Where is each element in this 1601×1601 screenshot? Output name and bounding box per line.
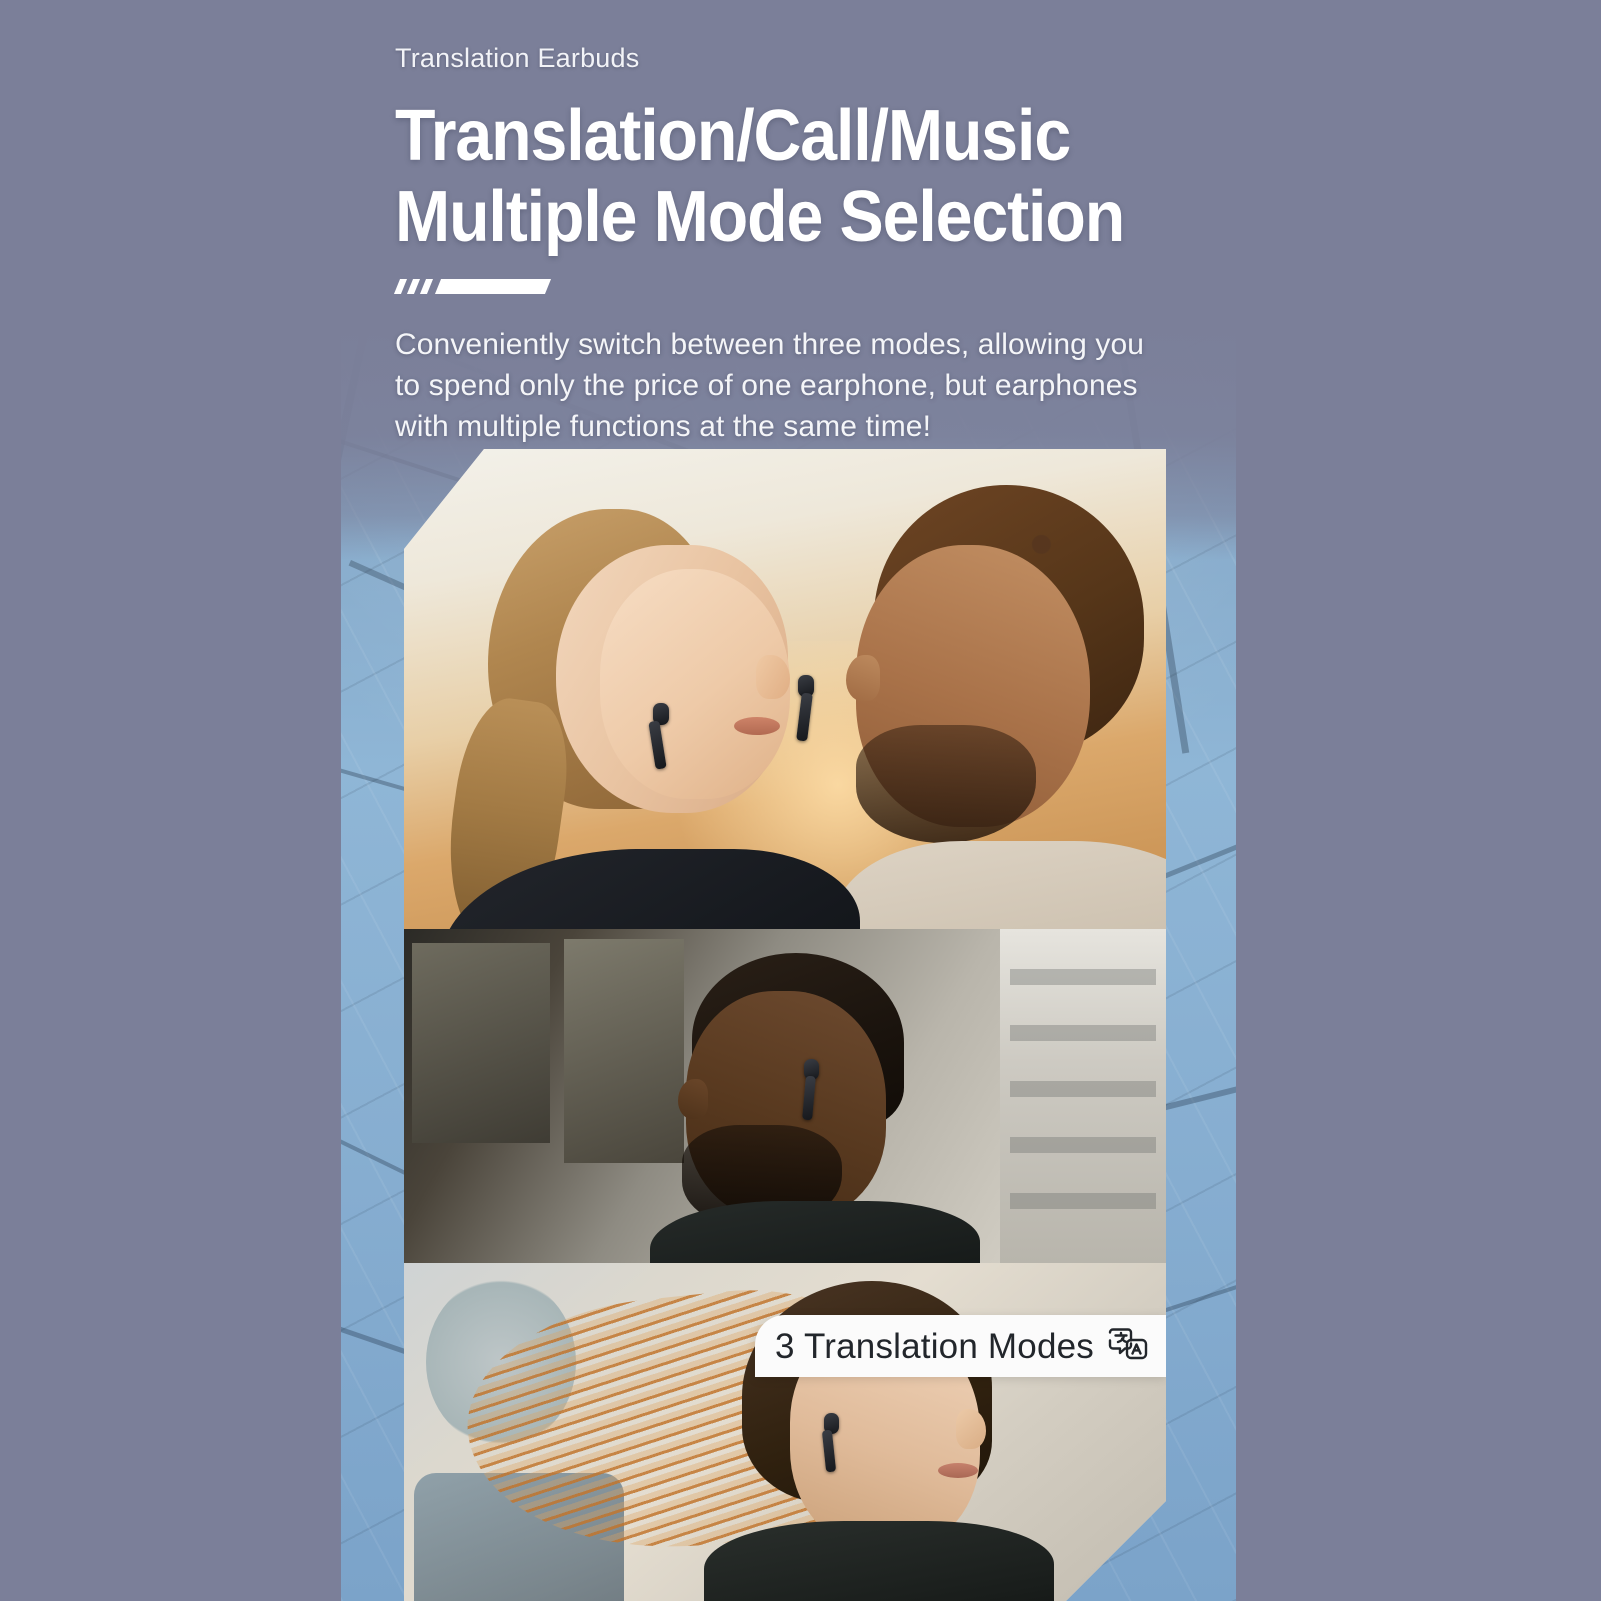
photo-collage: 3 Translation Modes	[404, 449, 1166, 1601]
headline-line-2: Multiple Mode Selection	[395, 177, 1131, 258]
headline-line-1: Translation/Call/Music	[395, 96, 1131, 177]
description-text: Conveniently switch between three modes,…	[395, 325, 1165, 447]
translate-icon	[1106, 1326, 1150, 1366]
photo-panel-translation	[404, 449, 1166, 929]
product-feature-banner: 3 Translation Modes	[0, 0, 1601, 1601]
eyebrow-text: Translation Earbuds	[395, 0, 1195, 72]
badge-translation-label: 3 Translation Modes	[775, 1329, 1094, 1364]
page-title: Translation/Call/Music Multiple Mode Sel…	[395, 96, 1131, 257]
right-margin	[1236, 0, 1601, 1601]
photo-panel-music	[404, 1263, 1166, 1601]
photo-panel-calling	[404, 929, 1166, 1263]
left-margin	[0, 0, 341, 1601]
decorative-divider	[397, 279, 1195, 301]
badge-translation-modes: 3 Translation Modes	[755, 1315, 1166, 1377]
header-text-block: Translation Earbuds Translation/Call/Mus…	[395, 0, 1195, 448]
